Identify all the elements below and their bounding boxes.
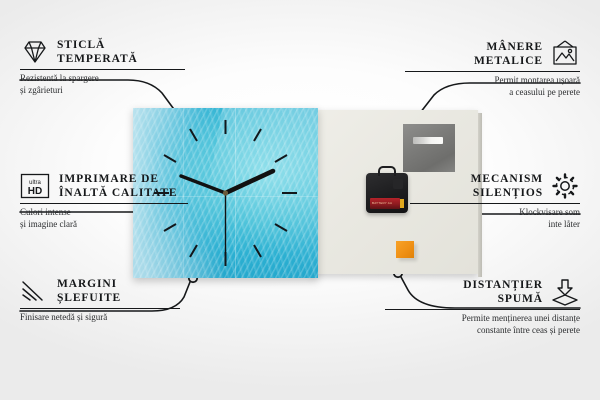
feature-margini-slefuite: MARGINI ȘLEFUITE Finisare netedă și sigu… <box>20 277 180 324</box>
battery-part: BATTERY AA <box>370 198 400 209</box>
feature-title: DISTANȚIER SPUMĂ <box>463 278 543 306</box>
feature-head: MÂNERE METALICE <box>405 40 580 68</box>
foam-spacer-part <box>396 241 414 258</box>
mechanism-knob <box>393 179 403 189</box>
feature-title: MÂNERE METALICE <box>474 40 543 68</box>
feature-imprimare-hd: ultra HD IMPRIMARE DE ÎNALTĂ CALITATE Cu… <box>20 172 188 231</box>
ultra-hd-icon: ultra HD <box>20 173 52 199</box>
feature-manere-metalice: MÂNERE METALICE Permit montarea ușoară a… <box>405 40 580 99</box>
picture-hanger-icon <box>550 40 580 68</box>
arrow-down-layer-icon <box>550 278 580 306</box>
infographic-stage: BATTERY AA <box>0 0 600 400</box>
feature-rule <box>405 71 580 72</box>
mechanism-loop <box>378 166 396 176</box>
quartz-mechanism-part: BATTERY AA <box>366 173 408 213</box>
battery-label: BATTERY AA <box>372 201 392 205</box>
diamond-icon <box>20 39 50 65</box>
feature-sticla-temperata: STICLĂ TEMPERATĂ Rezistentă la spargere … <box>20 38 185 97</box>
feature-mecanism-silentios: MECANISM SILENȚIOS Klockvisare som inte … <box>410 172 580 231</box>
feature-distantier-spuma: DISTANȚIER SPUMĂ Permite menținerea unei… <box>385 278 580 337</box>
ultra-hd-icon-big-label: HD <box>28 186 42 197</box>
feature-desc: Klockvisare som inte låter <box>410 207 580 231</box>
feature-head: DISTANȚIER SPUMĂ <box>385 278 580 306</box>
feature-desc: Permit montarea ușoară a ceasului pe per… <box>405 75 580 99</box>
feature-rule <box>20 308 180 309</box>
feature-title: IMPRIMARE DE ÎNALTĂ CALITATE <box>59 172 177 200</box>
feature-head: ultra HD IMPRIMARE DE ÎNALTĂ CALITATE <box>20 172 188 200</box>
feature-title: MECANISM SILENȚIOS <box>471 172 543 200</box>
hanger-slot <box>413 137 443 144</box>
feature-rule <box>20 69 185 70</box>
feature-desc: Culori intense și imagine clară <box>20 207 188 231</box>
gear-icon <box>550 172 580 200</box>
clock-hands-hub <box>223 190 228 195</box>
feature-head: STICLĂ TEMPERATĂ <box>20 38 185 66</box>
feature-title: MARGINI ȘLEFUITE <box>57 277 121 305</box>
feature-rule <box>410 203 580 204</box>
polished-edges-icon <box>20 278 50 304</box>
feature-title: STICLĂ TEMPERATĂ <box>57 38 138 66</box>
feature-rule <box>385 309 580 310</box>
feature-desc: Rezistentă la spargere și zgârieturi <box>20 73 185 97</box>
feature-head: MARGINI ȘLEFUITE <box>20 277 180 305</box>
feature-head: MECANISM SILENȚIOS <box>410 172 580 200</box>
hour-hand <box>226 171 274 193</box>
feature-rule <box>20 203 188 204</box>
feature-desc: Permite menținerea unei distanțe constan… <box>385 313 580 337</box>
metal-hanger-part <box>403 124 455 172</box>
feature-desc: Finisare netedă și sigură <box>20 312 180 324</box>
